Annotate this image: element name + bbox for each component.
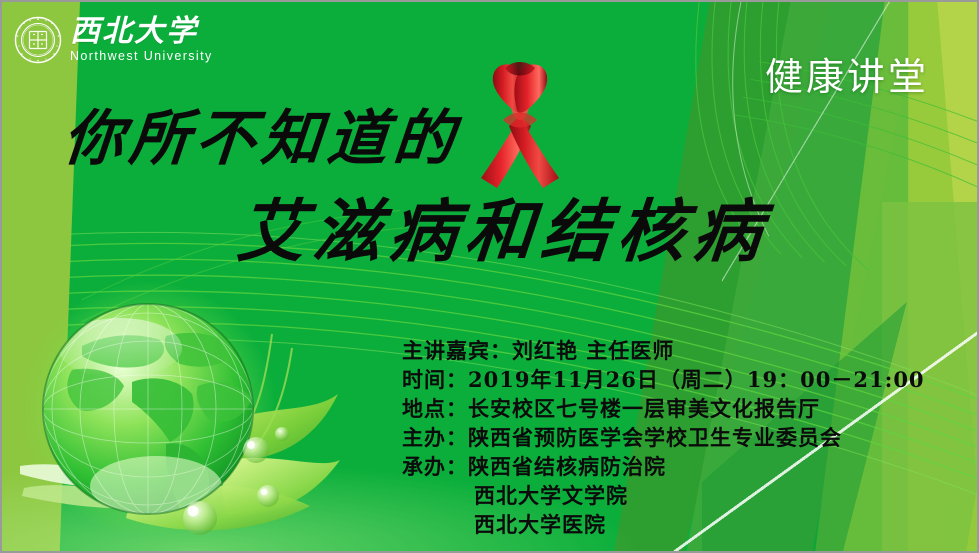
university-name-cn: 西北大学 [70,17,213,47]
event-detail-line: 主讲嘉宾：刘红艳 主任医师 [402,336,925,365]
university-logo: 西北大学 Northwest University [14,16,213,64]
event-details: 主讲嘉宾：刘红艳 主任医师 时间：2019年11月26日（周二）19：00－21… [402,336,925,539]
aids-red-ribbon-icon [465,54,575,199]
green-globe-illustration [20,274,340,553]
university-name-en: Northwest University [70,50,213,63]
event-detail-line: 地点：长安校区七号楼一层审美文化报告厅 [402,394,925,423]
event-detail-line: 承办：陕西省结核病防治院 [402,452,925,481]
event-detail-line: 主办：陕西省预防医学会学校卫生专业委员会 [402,423,925,452]
header-badge: 健康讲堂 [765,46,929,101]
poster-title-line-1: 你所不知道的 [60,90,464,177]
poster-canvas: 西北大学 Northwest University 健康讲堂 你所不知道的 艾滋… [0,0,979,553]
northwest-university-seal-icon [14,16,62,64]
event-detail-line: 时间：2019年11月26日（周二）19：00－21:00 [402,365,925,394]
event-detail-line: 西北大学医院 [402,510,925,539]
event-detail-line: 西北大学文学院 [402,481,925,510]
